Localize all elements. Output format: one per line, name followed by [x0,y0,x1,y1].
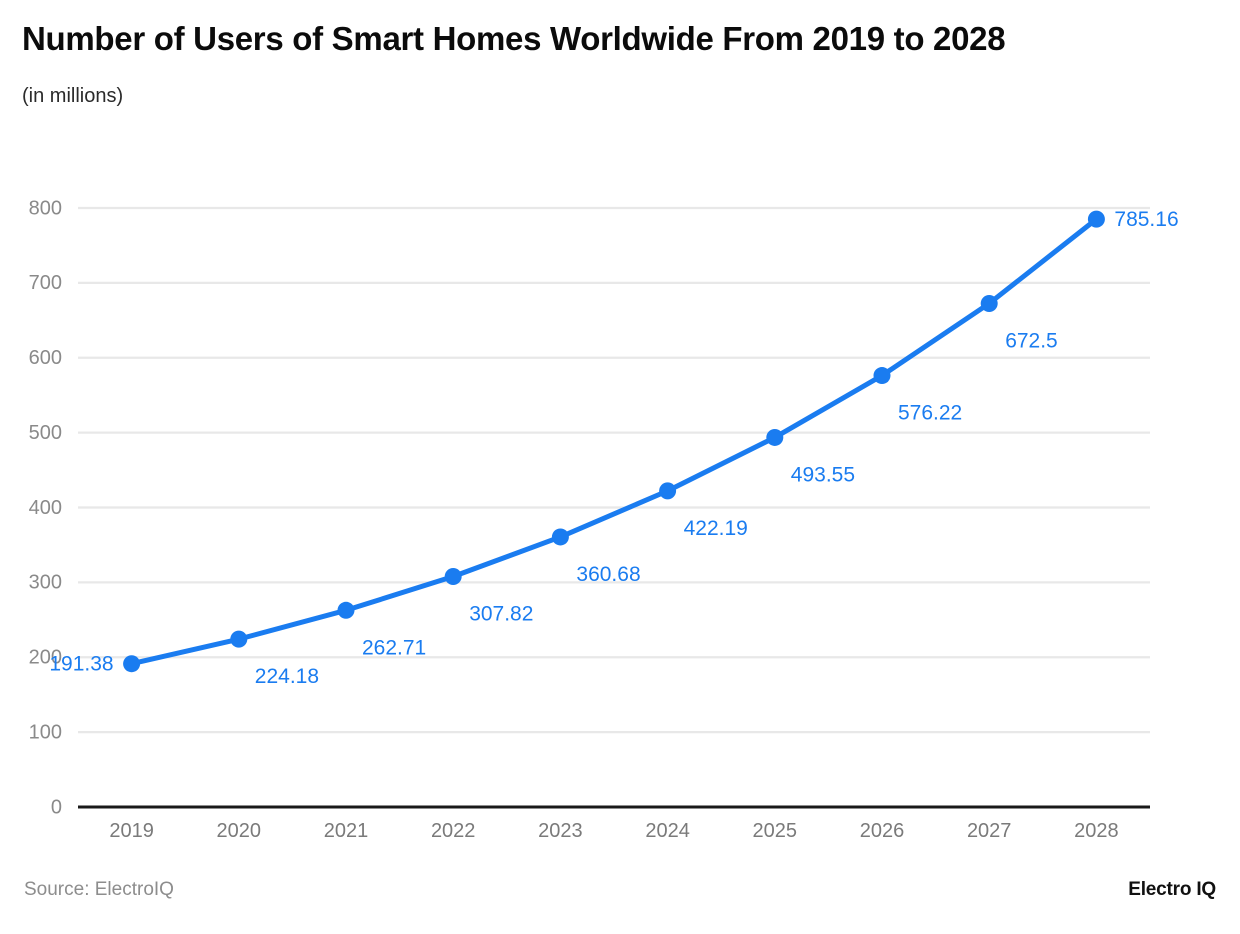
data-point-markers[interactable] [123,211,1105,673]
y-axis-tick-label: 700 [29,272,62,294]
data-point-marker[interactable] [874,367,891,384]
x-axis-tick-labels: 2019202020212022202320242025202620272028 [109,820,1118,842]
data-point-marker[interactable] [338,602,355,619]
series-polyline [132,219,1097,664]
x-axis-tick-label: 2028 [1074,820,1119,842]
data-point-marker[interactable] [230,631,247,648]
x-axis-tick-label: 2026 [860,820,905,842]
data-point-label: 224.18 [255,665,319,688]
chart-footer: Source: ElectroIQ Electro IQ [0,880,1240,920]
data-point-marker[interactable] [981,295,998,312]
data-point-label: 422.19 [684,517,748,540]
brand-logo-text: Electro IQ [1128,880,1216,899]
y-axis-tick-label: 0 [51,796,62,818]
y-axis-tick-label: 300 [29,572,62,594]
data-point-marker[interactable] [659,482,676,499]
y-axis-tick-label: 100 [29,721,62,743]
line-chart-svg: 0100200300400500600700800 20192020202120… [0,0,1240,934]
y-axis-tick-label: 400 [29,497,62,519]
data-point-label: 785.16 [1114,208,1178,231]
data-point-label: 672.5 [1005,329,1058,352]
data-series-line [132,219,1097,664]
y-axis-tick-labels: 0100200300400500600700800 [29,197,62,818]
x-axis-tick-label: 2020 [217,820,262,842]
data-point-marker[interactable] [123,655,140,672]
x-axis-tick-label: 2022 [431,820,476,842]
source-label: Source: ElectroIQ [24,880,174,899]
chart-page: Number of Users of Smart Homes Worldwide… [0,0,1240,934]
data-point-labels: 191.38224.18262.71307.82360.68422.19493.… [49,208,1178,688]
data-point-label: 576.22 [898,402,962,425]
x-axis-tick-label: 2027 [967,820,1012,842]
y-axis-tick-label: 800 [29,197,62,219]
data-point-label: 493.55 [791,463,855,486]
data-point-marker[interactable] [1088,211,1105,228]
data-point-marker[interactable] [766,429,783,446]
data-point-label: 360.68 [576,563,640,586]
chart-plot-area: 0100200300400500600700800 20192020202120… [0,0,1240,934]
data-point-label: 262.71 [362,636,426,659]
y-axis-tick-label: 500 [29,422,62,444]
x-axis-tick-label: 2024 [645,820,690,842]
x-axis-tick-label: 2025 [753,820,798,842]
x-axis-tick-label: 2021 [324,820,369,842]
data-point-label: 307.82 [469,603,533,626]
data-point-marker[interactable] [445,568,462,585]
data-point-marker[interactable] [552,528,569,545]
x-axis-tick-label: 2023 [538,820,583,842]
gridlines [78,208,1150,732]
y-axis-tick-label: 600 [29,347,62,369]
x-axis-tick-label: 2019 [109,820,154,842]
data-point-label: 191.38 [49,653,113,676]
